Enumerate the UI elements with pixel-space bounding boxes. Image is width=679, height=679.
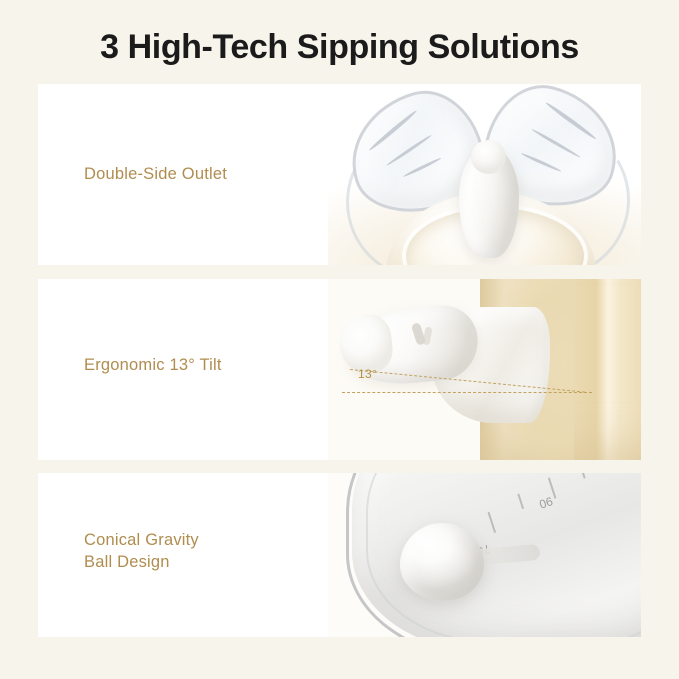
feature-card-double-side-outlet: Double-Side Outlet	[38, 84, 641, 265]
graduation-tick	[579, 473, 585, 479]
graduation-tick	[517, 494, 523, 510]
angle-guide-baseline	[342, 392, 592, 393]
feature-card-conical-gravity-ball: 70 ml 90 Conical Gravity Ball Design	[38, 473, 641, 637]
splash-streak	[545, 101, 598, 141]
feature-label-ergonomic-tilt: Ergonomic 13° Tilt	[84, 354, 222, 376]
graduation-label-90: 90	[538, 494, 555, 511]
product-infographic: 3 High-Tech Sipping Solutions Double-Sid…	[0, 0, 679, 679]
feature-card-ergonomic-tilt: 13° Ergonomic 13° Tilt	[38, 279, 641, 460]
splash-streak	[520, 152, 561, 173]
splash-streak	[386, 134, 432, 167]
gravity-ball	[400, 523, 484, 601]
bottle-nipple-tip	[471, 140, 506, 174]
feature-art-ergonomic-tilt: 13°	[328, 279, 641, 460]
feature-label-conical-gravity-ball: Conical Gravity Ball Design	[84, 529, 199, 573]
splash-streak	[403, 157, 442, 178]
splash-streak	[531, 128, 581, 159]
feature-label-double-side-outlet: Double-Side Outlet	[84, 163, 227, 185]
angle-annotation-label: 13°	[358, 367, 377, 381]
splash-streak	[368, 109, 418, 152]
page-title: 3 High-Tech Sipping Solutions	[0, 28, 679, 67]
feature-art-double-side-outlet	[328, 84, 641, 265]
graduation-tick	[487, 512, 495, 533]
feature-art-conical-gravity-ball: 70 ml 90	[328, 473, 641, 637]
